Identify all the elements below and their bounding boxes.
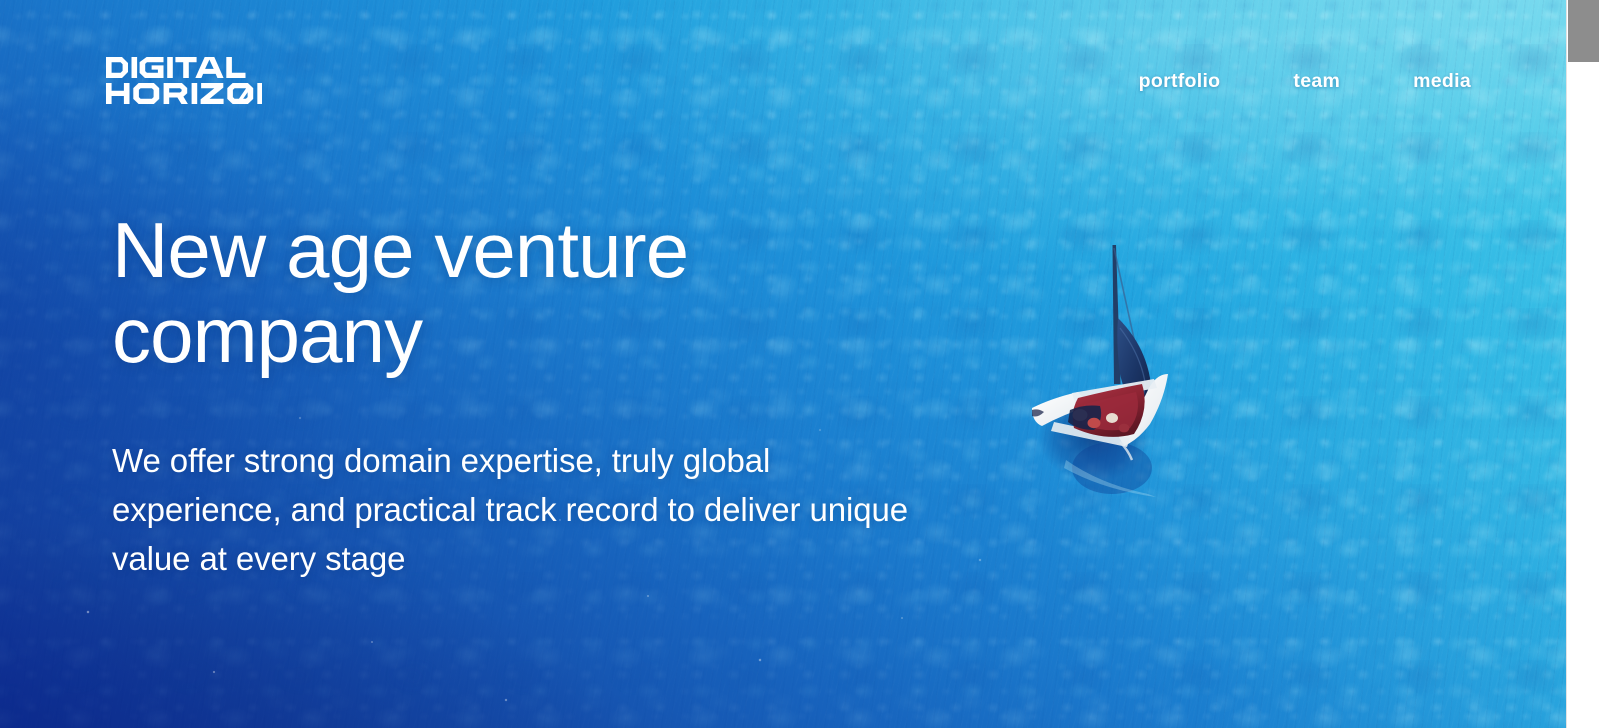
sailboat-illustration xyxy=(1008,232,1188,497)
scrollbar-thumb[interactable] xyxy=(1568,0,1599,62)
vertical-scrollbar[interactable] xyxy=(1566,0,1599,728)
hero-section: portfolio team media New age venture com… xyxy=(0,0,1566,728)
nav-link-media[interactable]: media xyxy=(1413,70,1471,93)
main-navigation: portfolio team media xyxy=(1139,70,1471,93)
hero-copy-block: New age venture company We offer strong … xyxy=(112,208,912,584)
brand-logo[interactable] xyxy=(106,57,262,105)
browser-viewport: portfolio team media New age venture com… xyxy=(0,0,1599,728)
hero-subtitle: We offer strong domain expertise, truly … xyxy=(112,436,912,583)
nav-link-team[interactable]: team xyxy=(1293,70,1340,93)
nav-link-portfolio[interactable]: portfolio xyxy=(1139,70,1221,93)
hero-title: New age venture company xyxy=(112,208,912,378)
digital-horizon-logotype xyxy=(106,57,262,105)
site-header: portfolio team media xyxy=(0,0,1566,160)
